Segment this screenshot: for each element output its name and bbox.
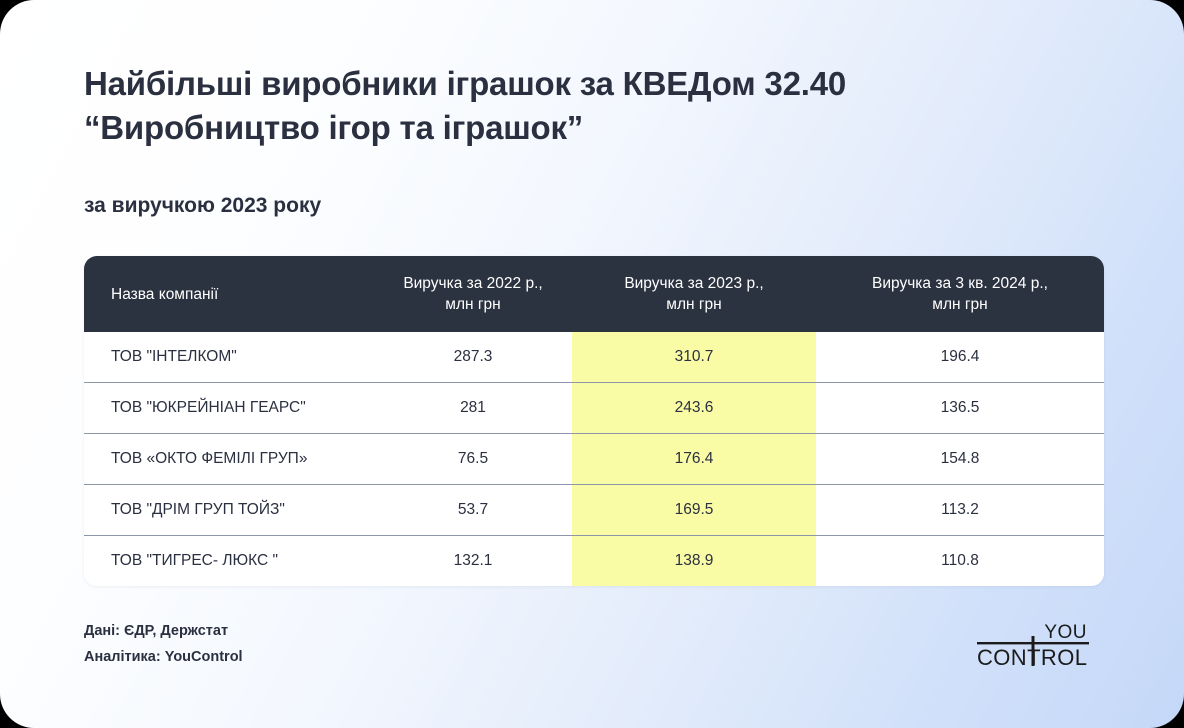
logo-t-stem: [1032, 636, 1035, 666]
table-row: ТОВ "ТИГРЕС- ЛЮКС " 132.1 138.9 110.8: [84, 536, 1104, 587]
cell-revenue-2023: 243.6: [572, 383, 816, 434]
footer-notes: Дані: ЄДР, Держстат Аналітика: YouContro…: [84, 618, 243, 670]
table-header-row: Назва компанії Виручка за 2022 р., млн г…: [84, 256, 1104, 332]
youcontrol-logo-icon: YOU CONTROL: [977, 620, 1089, 670]
cell-revenue-2022: 132.1: [374, 536, 572, 587]
cell-revenue-q3-2024: 113.2: [816, 485, 1104, 536]
logo-text-you: YOU: [1044, 622, 1087, 643]
youcontrol-logo: YOU CONTROL: [977, 620, 1089, 670]
column-header-revenue-2023: Виручка за 2023 р., млн грн: [572, 256, 816, 332]
cell-revenue-q3-2024: 136.5: [816, 383, 1104, 434]
cell-revenue-2023: 138.9: [572, 536, 816, 587]
cell-revenue-q3-2024: 154.8: [816, 434, 1104, 485]
header-block: Найбільші виробники іграшок за КВЕДом 32…: [84, 62, 1104, 220]
table-row: ТОВ "ЮКРЕЙНІАН ГЕАРС" 281 243.6 136.5: [84, 383, 1104, 434]
footer-data-source: Дані: ЄДР, Держстат: [84, 618, 243, 644]
table-row: ТОВ "ДРІМ ГРУП ТОЙЗ" 53.7 169.5 113.2: [84, 485, 1104, 536]
cell-company-name: ТОВ "ЮКРЕЙНІАН ГЕАРС": [84, 383, 374, 434]
cell-revenue-2022: 76.5: [374, 434, 572, 485]
cell-company-name: ТОВ "ТИГРЕС- ЛЮКС ": [84, 536, 374, 587]
infographic-page: Найбільші виробники іграшок за КВЕДом 32…: [0, 0, 1184, 728]
data-table-card: Назва компанії Виручка за 2022 р., млн г…: [84, 256, 1104, 586]
cell-revenue-2022: 281: [374, 383, 572, 434]
table-header: Назва компанії Виручка за 2022 р., млн г…: [84, 256, 1104, 332]
column-header-revenue-q3-2024: Виручка за 3 кв. 2024 р., млн грн: [816, 256, 1104, 332]
table-row: ТОВ "ІНТЕЛКОМ" 287.3 310.7 196.4: [84, 332, 1104, 383]
cell-revenue-q3-2024: 196.4: [816, 332, 1104, 383]
companies-table: Назва компанії Виручка за 2022 р., млн г…: [84, 256, 1104, 586]
cell-revenue-q3-2024: 110.8: [816, 536, 1104, 587]
cell-revenue-2023: 310.7: [572, 332, 816, 383]
cell-revenue-2022: 53.7: [374, 485, 572, 536]
page-subtitle: за виручкою 2023 року: [84, 150, 1104, 220]
page-title: Найбільші виробники іграшок за КВЕДом 32…: [84, 62, 1104, 150]
cell-company-name: ТОВ «ОКТО ФЕМІЛІ ГРУП»: [84, 434, 374, 485]
column-header-revenue-2022: Виручка за 2022 р., млн грн: [374, 256, 572, 332]
cell-revenue-2022: 287.3: [374, 332, 572, 383]
cell-company-name: ТОВ "ІНТЕЛКОМ": [84, 332, 374, 383]
cell-company-name: ТОВ "ДРІМ ГРУП ТОЙЗ": [84, 485, 374, 536]
footer-analytics: Аналітика: YouControl: [84, 644, 243, 670]
cell-revenue-2023: 169.5: [572, 485, 816, 536]
table-row: ТОВ «ОКТО ФЕМІЛІ ГРУП» 76.5 176.4 154.8: [84, 434, 1104, 485]
column-header-company-name: Назва компанії: [84, 256, 374, 332]
table-body: ТОВ "ІНТЕЛКОМ" 287.3 310.7 196.4 ТОВ "ЮК…: [84, 332, 1104, 586]
cell-revenue-2023: 176.4: [572, 434, 816, 485]
